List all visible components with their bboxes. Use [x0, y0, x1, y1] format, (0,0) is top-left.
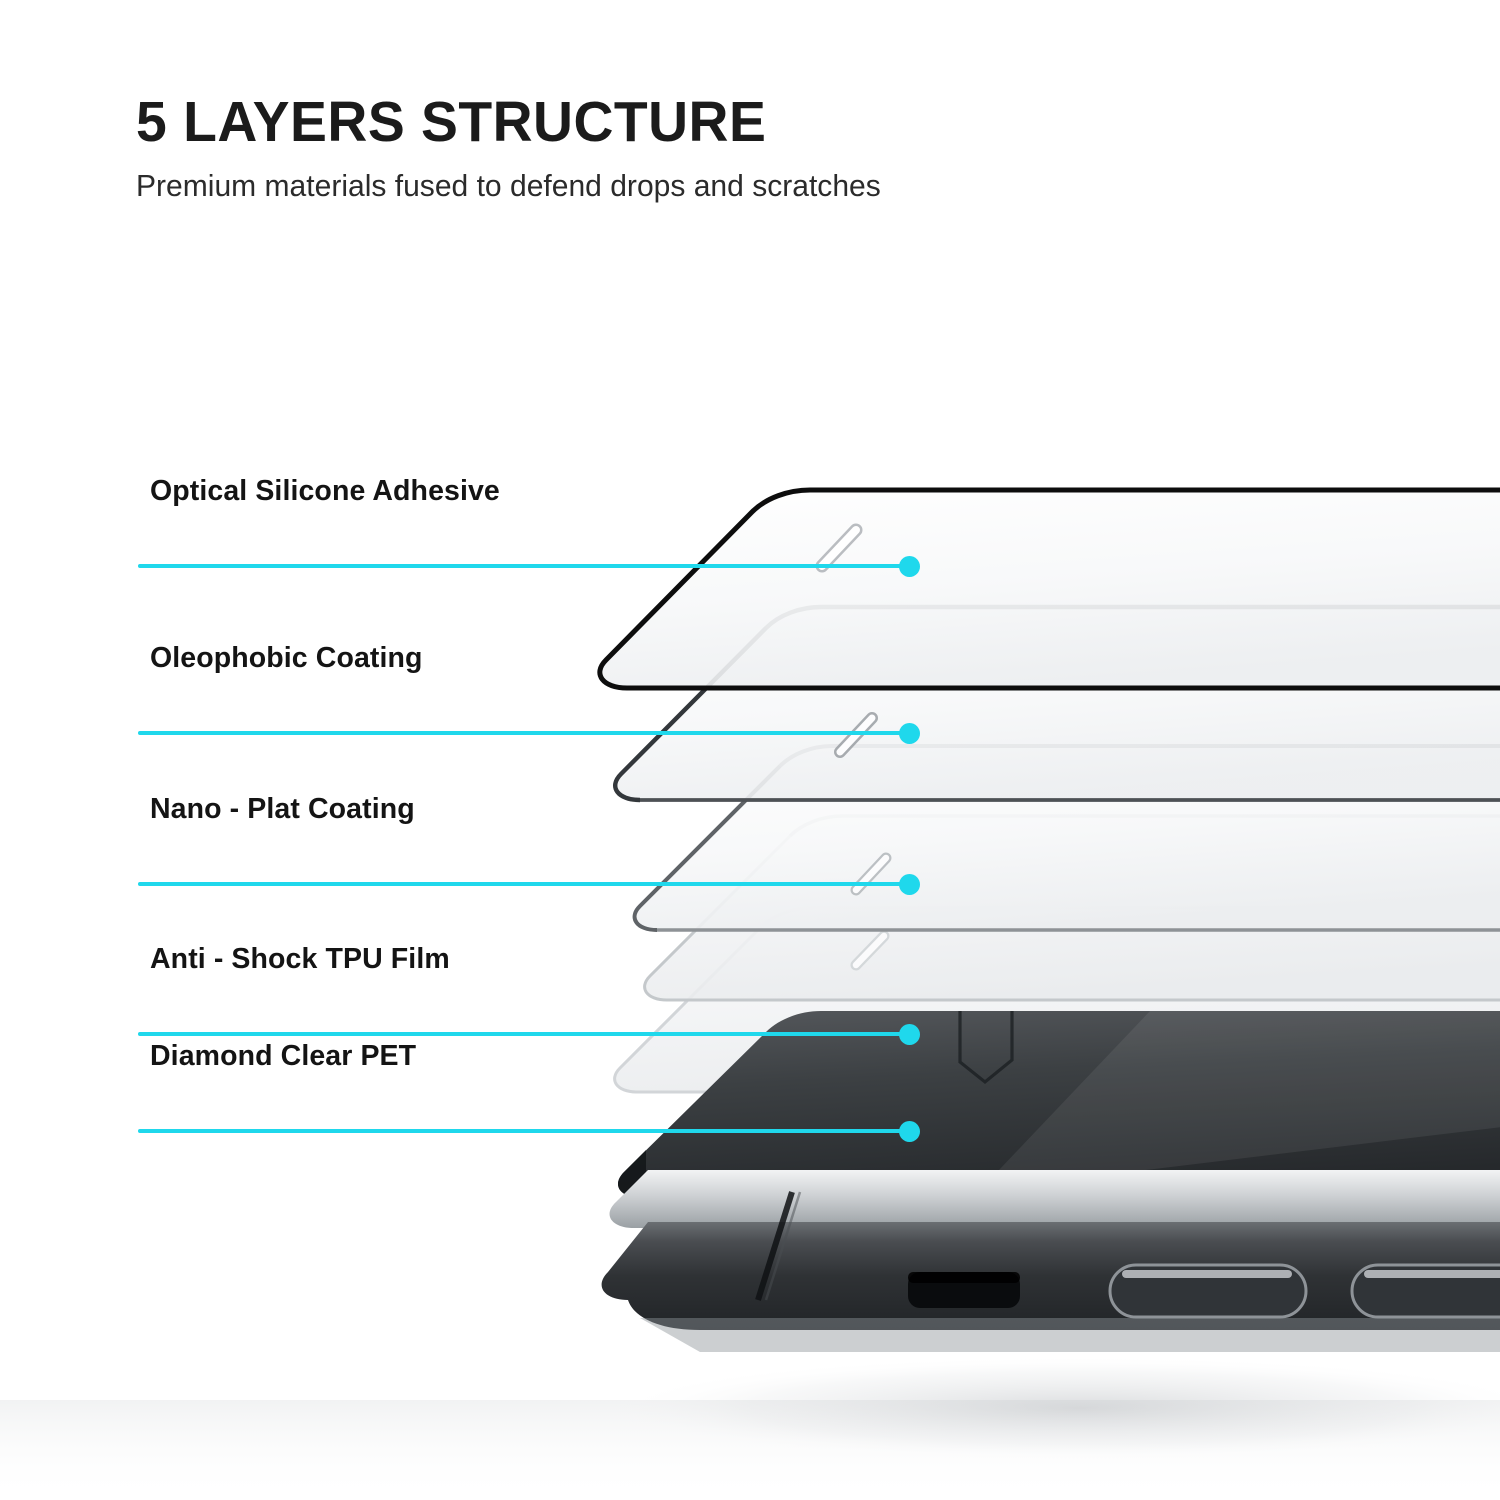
glass-sheet-3: [635, 746, 1500, 930]
infographic-canvas: 5 LAYERS STRUCTURE Premium materials fus…: [0, 0, 1500, 1500]
leader-dot-4: [899, 1024, 920, 1045]
header-block: 5 LAYERS STRUCTURE Premium materials fus…: [136, 92, 1236, 204]
callout-label: Optical Silicone Adhesive: [150, 475, 500, 508]
page-title: 5 LAYERS STRUCTURE: [136, 92, 1203, 152]
charging-port: [908, 1272, 1020, 1308]
layer-stack-illustration: [0, 0, 1500, 1500]
glass-sheet-4: [645, 816, 1500, 1000]
leader-dot-5: [899, 1121, 920, 1142]
callout-label: Diamond Clear PET: [150, 1040, 416, 1073]
speaker-grille-right: [1352, 1265, 1500, 1317]
callout-label: Anti - Shock TPU Film: [150, 943, 450, 976]
page-subtitle: Premium materials fused to defend drops …: [136, 169, 1220, 204]
phone-device: [602, 1011, 1500, 1352]
glass-sheet-2: [615, 607, 1500, 800]
glass-sheet-5: [615, 908, 1500, 1092]
callout-label: Oleophobic Coating: [150, 642, 423, 675]
glass-sheet-1: [600, 490, 1500, 688]
ground-shadow: [610, 1356, 1500, 1460]
callout-label: Nano - Plat Coating: [150, 793, 415, 826]
speaker-grille-left: [1110, 1265, 1306, 1317]
leader-dot-2: [899, 723, 920, 744]
leader-dot-1: [899, 556, 920, 577]
leader-dot-3: [899, 874, 920, 895]
